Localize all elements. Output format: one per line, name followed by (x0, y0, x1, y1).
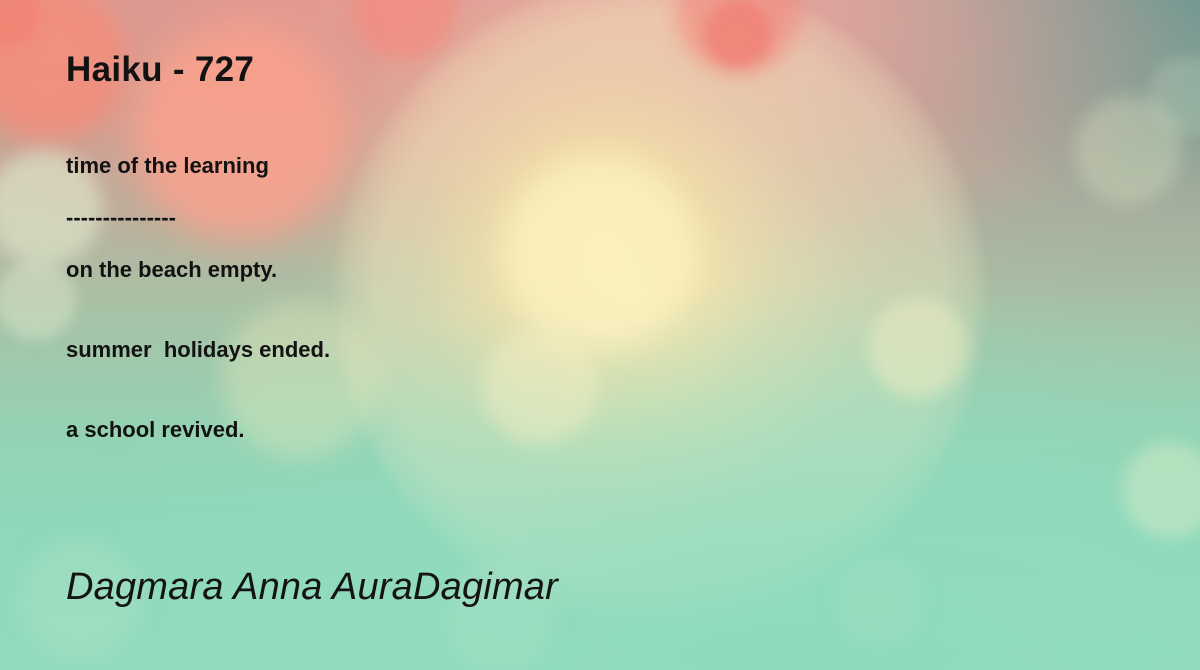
poem-separator-line: --------------- (66, 207, 1066, 229)
line-spacer (66, 177, 1066, 207)
line-spacer (66, 281, 1066, 339)
bokeh-circle-coral-top-right-b (704, 0, 772, 68)
poem-image-card: Haiku - 727 time of the learning -------… (0, 0, 1200, 670)
poem-author: Dagmara Anna AuraDagimar (66, 566, 558, 609)
bokeh-circle-pale-cream-left-lower (0, 260, 76, 340)
line-spacer (66, 229, 1066, 259)
poem-body: time of the learning --------------- on … (66, 155, 1066, 441)
poem-line-3: on the beach empty. (66, 259, 1066, 281)
poem-title: Haiku - 727 (66, 50, 254, 90)
poem-line-5: a school revived. (66, 419, 1066, 441)
bokeh-circle-mint-bottom-right (834, 554, 926, 646)
bokeh-circle-coral-top-mid (352, 0, 456, 60)
bokeh-circle-cream-right-edge (1122, 442, 1200, 538)
poem-line-1: time of the learning (66, 155, 1066, 177)
poem-line-4: summer holidays ended. (66, 339, 1066, 361)
line-spacer (66, 361, 1066, 419)
